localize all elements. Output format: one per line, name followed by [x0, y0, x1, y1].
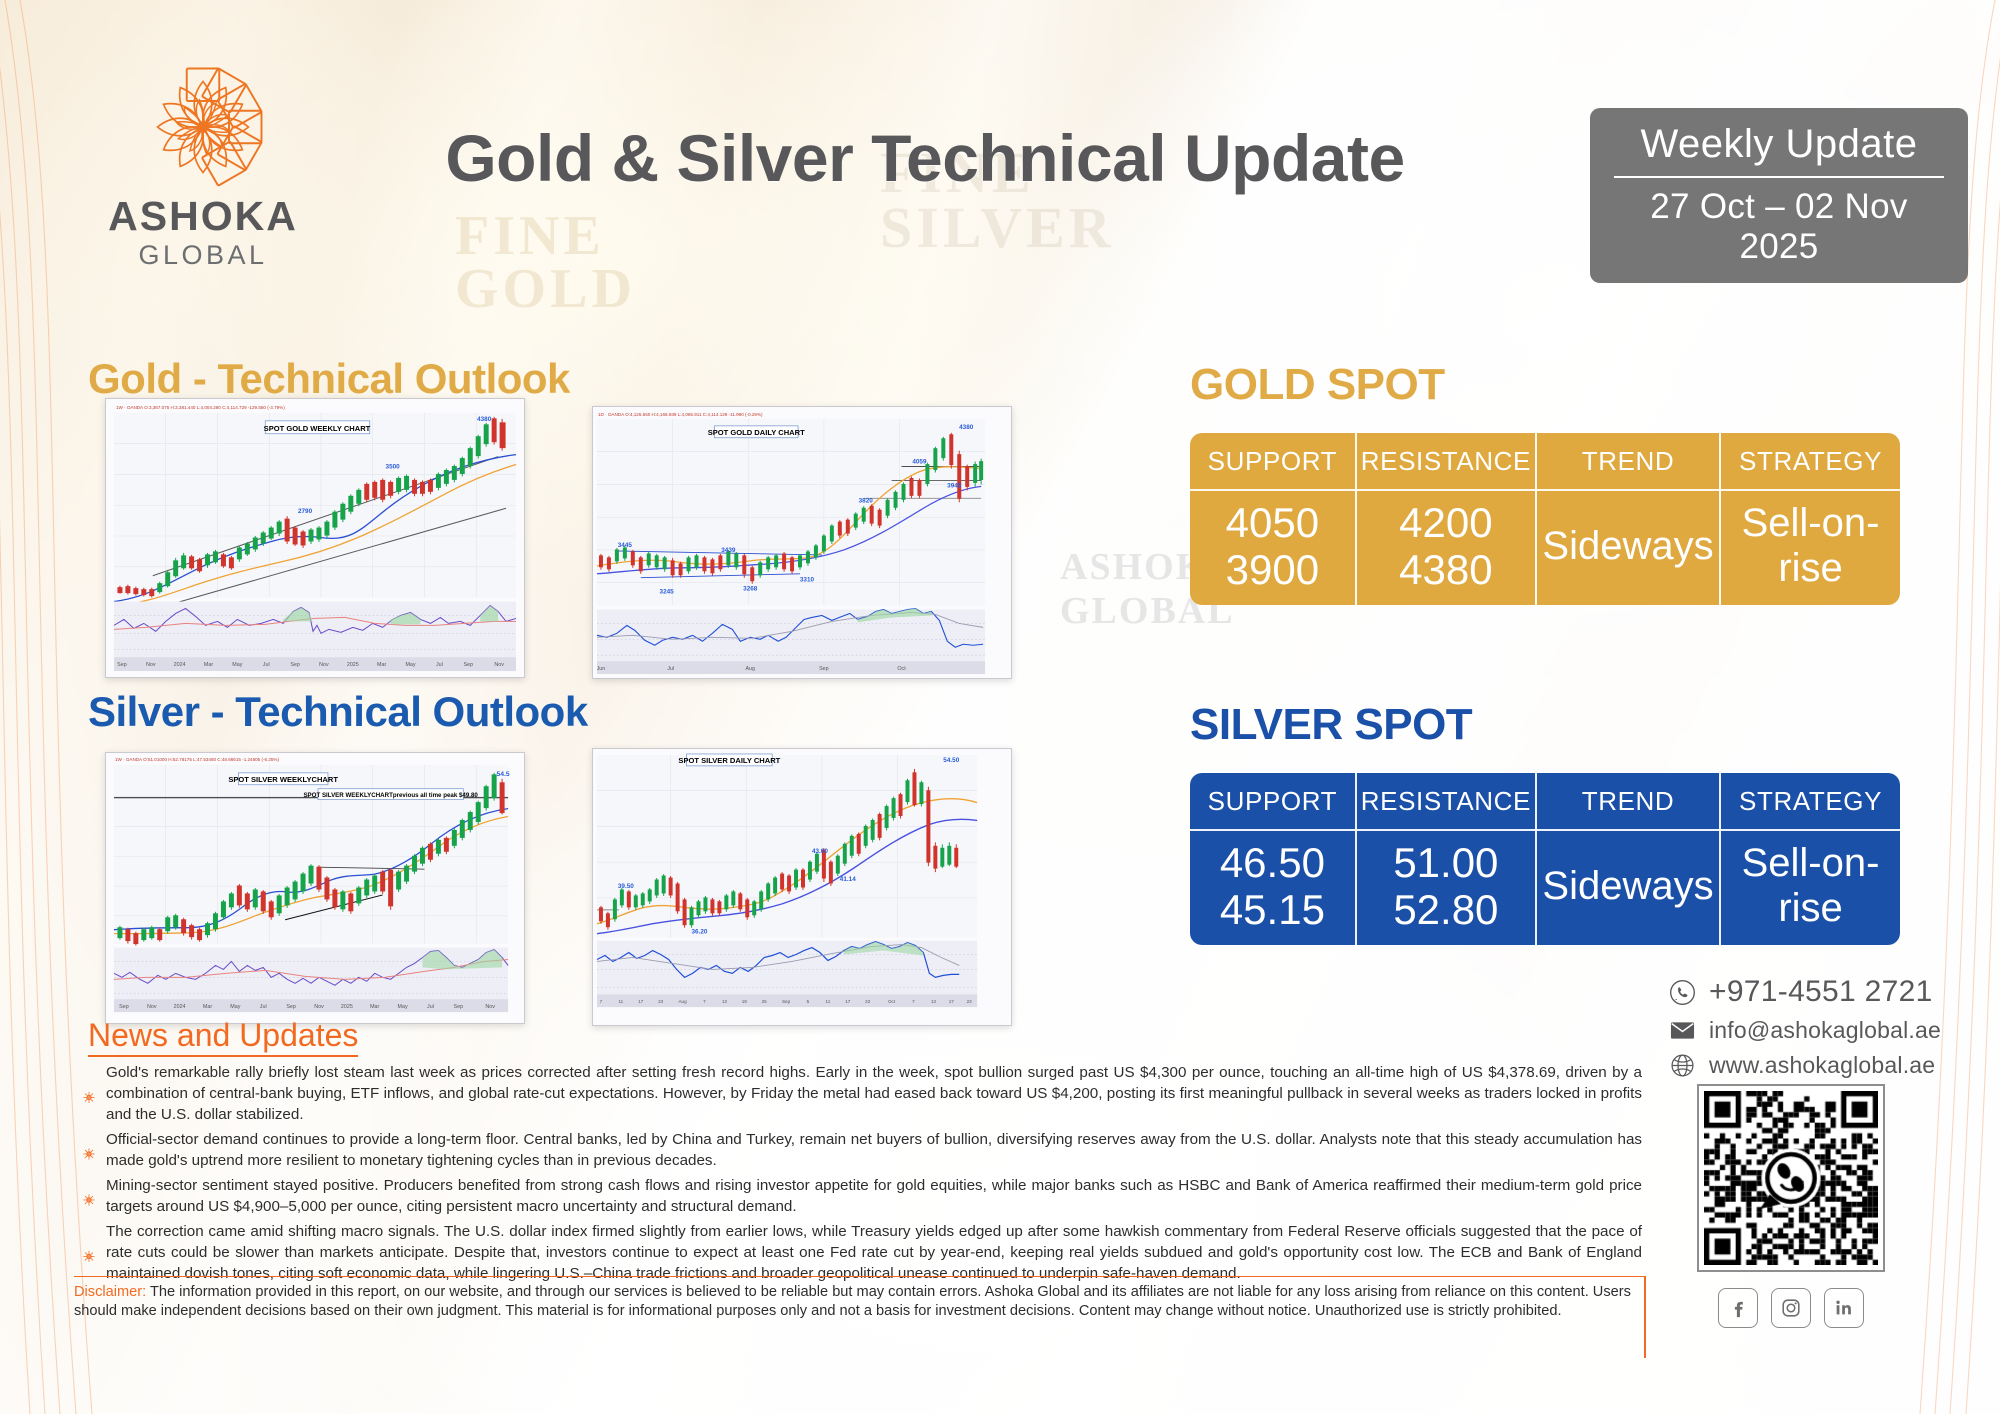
flower-bullet-icon: [82, 1182, 96, 1218]
envelope-icon: [1668, 1016, 1696, 1044]
svg-text:17: 17: [638, 999, 644, 1004]
svg-text:Aug: Aug: [679, 999, 688, 1004]
flower-bullet-icon: [82, 1136, 96, 1172]
brand-logo-block: ASHOKA GLOBAL: [88, 62, 318, 271]
instagram-icon[interactable]: [1771, 1288, 1811, 1328]
silver-daily-label: SPOT SILVER DAILY CHART: [678, 756, 780, 765]
svg-text:17: 17: [845, 999, 851, 1004]
gold-resistance-2: 4380: [1361, 546, 1531, 593]
svg-text:Sep: Sep: [454, 1004, 464, 1010]
svg-text:May: May: [405, 662, 415, 668]
svg-text:23: 23: [967, 999, 973, 1004]
svg-text:13: 13: [931, 999, 937, 1004]
badge-dates: 27 Oct – 02 Nov 2025: [1608, 187, 1950, 267]
linkedin-icon[interactable]: [1824, 1288, 1864, 1328]
silver-trend-value: Sideways: [1542, 864, 1713, 908]
silver-daily-chart[interactable]: SPOT SILVER DAILY CHART 54.50 43.00 41.1…: [592, 748, 1012, 1026]
svg-text:23: 23: [865, 999, 871, 1004]
list-item: Gold's remarkable rally briefly lost ste…: [82, 1063, 1642, 1126]
phone-row[interactable]: +971-4551 2721: [1668, 975, 1998, 1009]
table-header-row: SUPPORT RESISTANCE TREND STRATEGY: [1190, 433, 1900, 490]
silver-weekly-ohlc: 1W · OANDA O:51.01000 H:52.78175 L:47.53…: [115, 757, 280, 762]
svg-text:Jul: Jul: [667, 666, 674, 672]
globe-icon: [1668, 1051, 1696, 1079]
gold-daily-level-4059: 4059: [912, 459, 927, 466]
list-item: Official-sector demand continues to prov…: [82, 1130, 1642, 1172]
column-strategy: STRATEGY: [1720, 433, 1900, 490]
gold-daily-level-3310: 3310: [800, 577, 815, 584]
silver-weekly-chart[interactable]: 1W · OANDA O:51.01000 H:52.78175 L:47.53…: [105, 752, 525, 1024]
column-support: SUPPORT: [1190, 773, 1356, 830]
silver-daily-level-4114: 41.14: [840, 876, 856, 883]
gold-support-1: 4050: [1194, 499, 1351, 546]
page-title: Gold & Silver Technical Update: [370, 120, 1480, 196]
list-item: Mining-sector sentiment stayed positive.…: [82, 1176, 1642, 1218]
gold-support-2: 3900: [1194, 546, 1351, 593]
svg-text:Sep: Sep: [290, 662, 300, 668]
gold-weekly-chart[interactable]: 1W · OANDA O:3,367.075 H:3,381.440 L:4,0…: [105, 398, 525, 678]
contact-block: +971-4551 2721 info@ashokaglobal.ae www.…: [1668, 975, 1998, 1086]
silver-resistance-2: 52.80: [1361, 886, 1531, 933]
gold-strategy-cell: Sell-on-rise: [1720, 490, 1900, 605]
gold-trend-cell: Sideways: [1536, 490, 1720, 605]
silver-daily-level-3950: 39.50: [618, 883, 634, 890]
gold-daily-level-3445: 3445: [618, 542, 633, 549]
social-links: [1718, 1288, 1864, 1328]
gold-strategy-value: Sell-on-rise: [1742, 501, 1880, 590]
weekly-update-badge: Weekly Update 27 Oct – 02 Nov 2025: [1590, 108, 1968, 283]
news-text: Official-sector demand continues to prov…: [106, 1130, 1642, 1172]
gold-resistance-1: 4200: [1361, 499, 1531, 546]
brand-name: ASHOKA: [88, 196, 318, 237]
silver-support-1: 46.50: [1194, 839, 1351, 886]
silver-resistance-cell: 51.00 52.80: [1356, 830, 1536, 945]
column-trend: TREND: [1536, 433, 1720, 490]
whatsapp-qr-code[interactable]: [1697, 1084, 1885, 1272]
silver-daily-level-3620: 36.20: [692, 929, 708, 936]
svg-text:May: May: [232, 662, 242, 668]
badge-title: Weekly Update: [1608, 122, 1950, 167]
svg-text:Mar: Mar: [203, 1004, 212, 1010]
column-trend: TREND: [1536, 773, 1720, 830]
disclaimer-label: Disclaimer:: [74, 1284, 146, 1300]
gold-weekly-label: SPOT GOLD WEEKLY CHART: [264, 424, 371, 433]
svg-text:Jul: Jul: [260, 1004, 267, 1010]
gold-resistance-cell: 4200 4380: [1356, 490, 1536, 605]
disclaimer-text: The information provided in this report,…: [74, 1284, 1631, 1319]
email-address: info@ashokaglobal.ae: [1709, 1017, 1941, 1044]
svg-text:Aug: Aug: [745, 666, 755, 672]
svg-text:Jul: Jul: [263, 662, 270, 668]
svg-text:May: May: [398, 1004, 408, 1010]
silver-weekly-level-545: 54.5: [497, 771, 510, 778]
facebook-icon[interactable]: [1718, 1288, 1758, 1328]
svg-text:Jun: Jun: [597, 666, 606, 672]
table-row: 4050 3900 4200 4380 Sideways Sell-on-ris…: [1190, 490, 1900, 605]
silver-support-cell: 46.50 45.15: [1190, 830, 1356, 945]
news-text: Gold's remarkable rally briefly lost ste…: [106, 1063, 1642, 1126]
svg-text:Mar: Mar: [370, 1004, 379, 1010]
silver-weekly-note: SPOT SILVER WEEKLYCHARTprevious all time…: [303, 792, 478, 799]
svg-text:13: 13: [722, 999, 728, 1004]
silver-weekly-label: SPOT SILVER WEEKLYCHART: [228, 775, 338, 784]
svg-text:Mar: Mar: [204, 662, 213, 668]
svg-text:Jul: Jul: [436, 662, 443, 668]
gold-daily-level-3245: 3245: [660, 589, 675, 596]
flower-bullet-icon: [82, 1069, 96, 1126]
website-row[interactable]: www.ashokaglobal.ae: [1668, 1051, 1998, 1079]
svg-text:Sep: Sep: [782, 999, 791, 1004]
gold-weekly-ohlc: 1W · OANDA O:3,367.075 H:3,381.440 L:4,0…: [116, 405, 285, 410]
phone-number: +971-4551 2721: [1709, 975, 1933, 1009]
news-text: Mining-sector sentiment stayed positive.…: [106, 1176, 1642, 1218]
svg-text:Oct: Oct: [888, 999, 896, 1004]
website-url: www.ashokaglobal.ae: [1709, 1052, 1935, 1079]
news-heading: News and Updates: [88, 1019, 358, 1057]
gold-weekly-level-3500: 3500: [386, 464, 401, 471]
svg-text:19: 19: [742, 999, 748, 1004]
svg-text:2024: 2024: [174, 662, 186, 668]
svg-text:2025: 2025: [347, 662, 359, 668]
column-strategy: STRATEGY: [1720, 773, 1900, 830]
gold-daily-level-3268: 3268: [743, 586, 758, 593]
silver-outlook-heading: Silver - Technical Outlook: [88, 688, 588, 736]
svg-text:Nov: Nov: [485, 1004, 495, 1010]
table-row: 46.50 45.15 51.00 52.80 Sideways Sell-on…: [1190, 830, 1900, 945]
gold-spot-heading: GOLD SPOT: [1190, 360, 1445, 410]
svg-text:Mar: Mar: [377, 662, 386, 668]
svg-text:Nov: Nov: [147, 1004, 157, 1010]
silver-daily-level-4300: 43.00: [812, 848, 828, 855]
svg-text:Sep: Sep: [463, 662, 473, 668]
brand-subtitle: GLOBAL: [88, 240, 318, 271]
svg-text:Nov: Nov: [146, 662, 156, 668]
svg-text:11: 11: [618, 999, 623, 1004]
svg-text:Nov: Nov: [314, 1004, 324, 1010]
svg-text:Sep: Sep: [117, 662, 127, 668]
silver-trend-cell: Sideways: [1536, 830, 1720, 945]
silver-spot-heading: SILVER SPOT: [1190, 700, 1472, 750]
gold-daily-level-3439: 3439: [721, 547, 736, 554]
gold-weekly-level-4380: 4380: [477, 416, 492, 423]
disclaimer-right-rule: [1644, 1276, 1646, 1358]
svg-text:Nov: Nov: [494, 662, 504, 668]
svg-text:23: 23: [658, 999, 664, 1004]
table-header-row: SUPPORT RESISTANCE TREND STRATEGY: [1190, 773, 1900, 830]
gold-daily-chart[interactable]: 1D · OANDA O:4,125.550 H:4,166.939 L:4,0…: [592, 406, 1012, 679]
disclaimer: Disclaimer: The information provided in …: [74, 1276, 1644, 1322]
gold-outlook-heading: Gold - Technical Outlook: [88, 355, 570, 403]
silver-support-2: 45.15: [1194, 886, 1351, 933]
svg-text:Sep: Sep: [286, 1004, 296, 1010]
gold-spot-table: SUPPORT RESISTANCE TREND STRATEGY 4050 3…: [1190, 433, 1900, 605]
silver-daily-level-5450: 54.50: [943, 757, 959, 764]
svg-text:Sep: Sep: [119, 1004, 129, 1010]
column-resistance: RESISTANCE: [1356, 433, 1536, 490]
svg-text:2024: 2024: [174, 1004, 186, 1010]
svg-text:2025: 2025: [341, 1004, 353, 1010]
gold-daily-level-3820: 3820: [859, 497, 874, 504]
gold-daily-ohlc: 1D · OANDA O:4,125.550 H:4,166.939 L:4,0…: [598, 412, 763, 417]
svg-text:Jul: Jul: [427, 1004, 434, 1010]
svg-text:17: 17: [949, 999, 955, 1004]
silver-strategy-cell: Sell-on-rise: [1720, 830, 1900, 945]
gold-daily-label: SPOT GOLD DAILY CHART: [708, 428, 805, 437]
svg-text:May: May: [230, 1004, 240, 1010]
column-resistance: RESISTANCE: [1356, 773, 1536, 830]
gold-support-cell: 4050 3900: [1190, 490, 1356, 605]
mandala-flower-icon: [138, 62, 268, 192]
gold-daily-level-3945: 3945: [947, 482, 962, 489]
svg-text:11: 11: [825, 999, 830, 1004]
silver-resistance-1: 51.00: [1361, 839, 1531, 886]
svg-text:25: 25: [762, 999, 768, 1004]
gold-daily-level-4380: 4380: [959, 424, 974, 431]
svg-text:Oct: Oct: [897, 666, 906, 672]
column-support: SUPPORT: [1190, 433, 1356, 490]
silver-strategy-value: Sell-on-rise: [1742, 841, 1880, 930]
gold-weekly-level-2790: 2790: [298, 508, 313, 515]
silver-spot-table: SUPPORT RESISTANCE TREND STRATEGY 46.50 …: [1190, 773, 1900, 945]
svg-text:Nov: Nov: [319, 662, 329, 668]
whatsapp-icon: [1668, 978, 1696, 1006]
news-list: Gold's remarkable rally briefly lost ste…: [82, 1063, 1642, 1289]
qr-canvas: [1704, 1091, 1878, 1265]
gold-trend-value: Sideways: [1542, 524, 1713, 568]
svg-text:Sep: Sep: [819, 666, 829, 672]
email-row[interactable]: info@ashokaglobal.ae: [1668, 1016, 1998, 1044]
badge-divider: [1614, 176, 1944, 178]
